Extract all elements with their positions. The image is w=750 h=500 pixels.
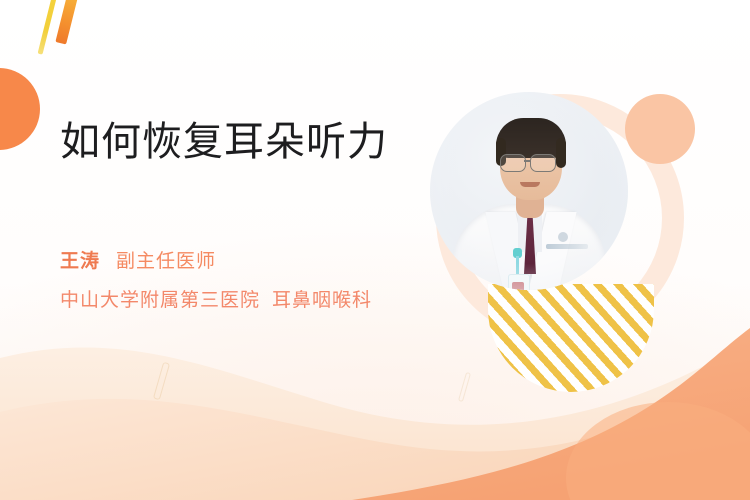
portrait-edge-fade [430,92,628,290]
portrait-cluster [412,78,702,378]
doctor-department: 耳鼻咽喉科 [272,290,372,311]
doctor-portrait-photo [430,92,628,290]
doctor-identity-line: 王涛副主任医师 [60,250,216,275]
video-cover-poster: 如何恢复耳朵听力 王涛副主任医师 中山大学附属第三医院耳鼻咽喉科 [0,0,750,500]
yellow-striped-half-circle-icon [488,284,654,392]
peach-dot-icon [625,94,695,164]
doctor-name: 王涛 [60,251,100,272]
doctor-hospital: 中山大学附属第三医院 [60,290,260,311]
page-title: 如何恢复耳朵听力 [60,118,388,167]
doctor-job-title: 副主任医师 [116,251,216,272]
doctor-affiliation-line: 中山大学附属第三医院耳鼻咽喉科 [60,289,372,314]
